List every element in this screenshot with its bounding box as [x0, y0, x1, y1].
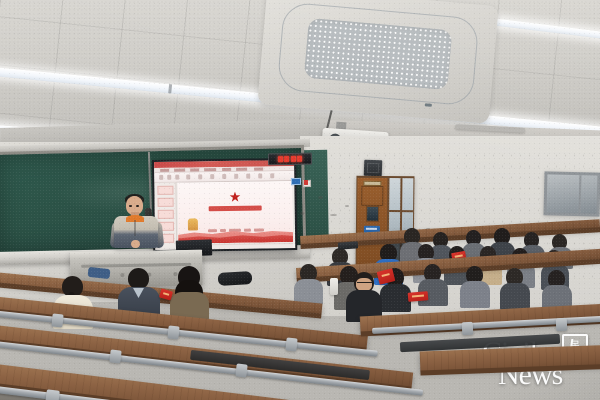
rail-clip [109, 349, 121, 363]
rail-clip [235, 363, 247, 377]
rail-clip [45, 389, 60, 400]
projection-screen [152, 158, 297, 252]
wall-speaker [364, 160, 383, 177]
rail-clip [167, 325, 179, 339]
ppt-slide-canvas [177, 181, 293, 244]
red-led-banner [268, 153, 312, 166]
fire-notice-sign [291, 178, 301, 185]
black-backpack [218, 271, 253, 286]
door-window-icon [366, 206, 379, 222]
rail-clip [285, 337, 297, 351]
wall-mark [318, 196, 323, 199]
presenter-hand [131, 240, 140, 248]
wall-window [543, 171, 600, 216]
blue-bag [88, 267, 111, 279]
wall-mark [330, 214, 337, 216]
rail-clip [51, 313, 63, 327]
projected-powerpoint [154, 160, 295, 250]
cassette-air-conditioner [257, 0, 498, 124]
wall-mark [345, 205, 349, 207]
laptop [338, 241, 358, 249]
rail-clip [462, 322, 474, 336]
ac-grille-icon [304, 18, 453, 90]
rail-clip [556, 318, 568, 332]
water-bottle [330, 278, 338, 295]
slide-figure-graphic [188, 218, 198, 230]
red-booklet [408, 291, 429, 302]
wall-mark [300, 212, 304, 215]
classroom-photo: Civil News 民 [0, 0, 600, 400]
presenter [112, 196, 162, 262]
evacuation-plan-mark [304, 180, 308, 185]
